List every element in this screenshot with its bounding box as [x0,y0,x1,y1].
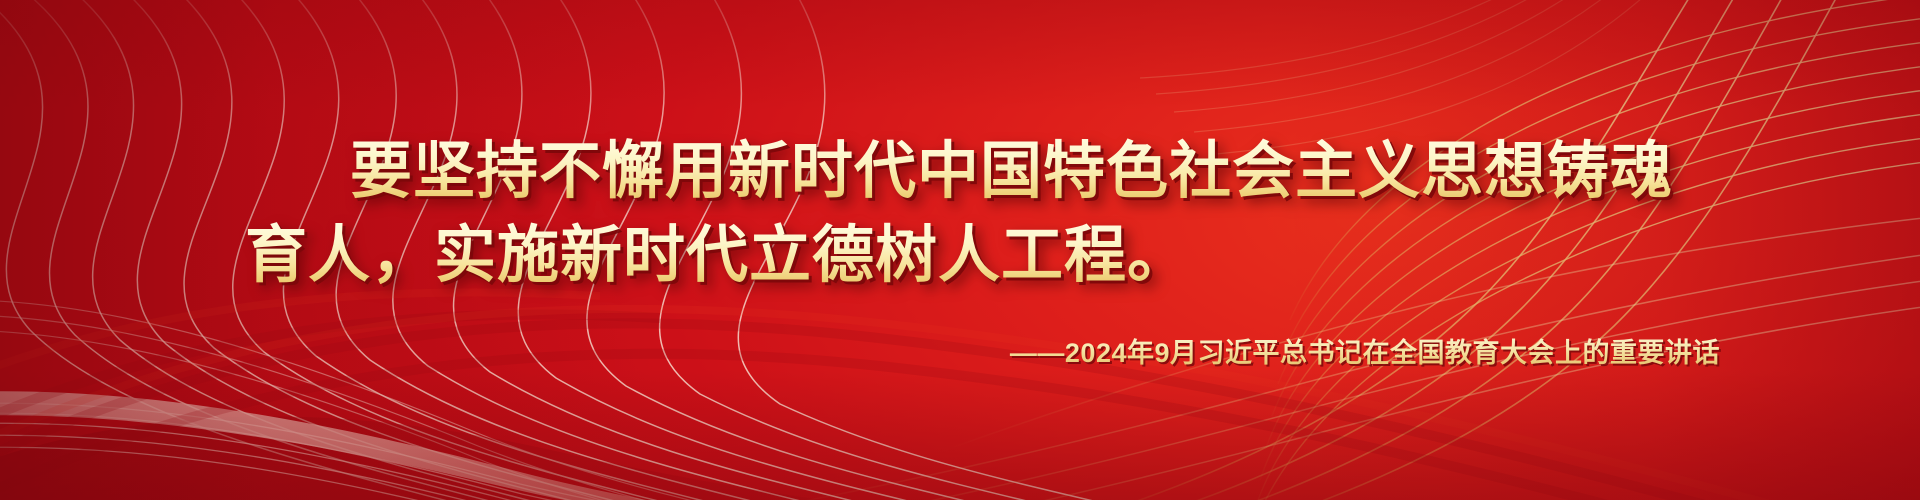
quote-attribution: ——2024年9月习近平总书记在全国教育大会上的重要讲话 [60,331,1860,370]
banner-content: 要坚持不懈用新时代中国特色社会主义思想铸魂 育人，实施新时代立德树人工程。 ——… [0,0,1920,500]
red-quote-banner: 要坚持不懈用新时代中国特色社会主义思想铸魂 育人，实施新时代立德树人工程。 ——… [0,0,1920,500]
quote-line-1: 要坚持不懈用新时代中国特色社会主义思想铸魂 [350,131,1860,213]
quote-line-2: 育人，实施新时代立德树人工程。 [245,215,1860,297]
